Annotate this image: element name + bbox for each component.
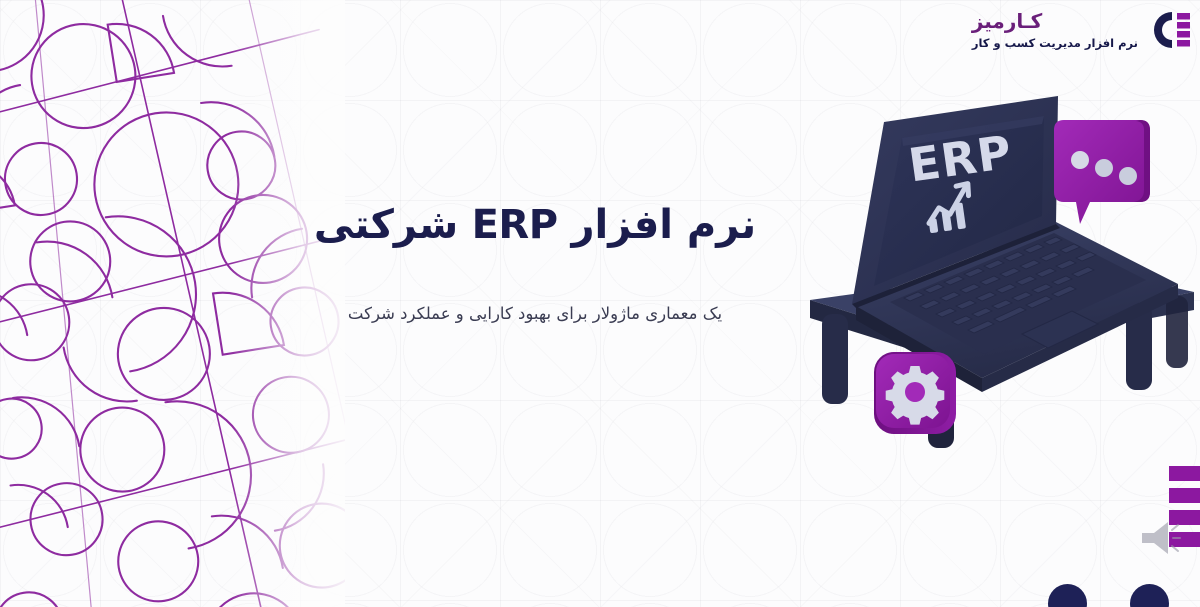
logo-text-block: کـارمیز نرم افزار مدیریت کسب و کار (972, 10, 1138, 50)
screen-erp-text: ERP (905, 125, 1015, 193)
hero-text-block: نرم افزار ERP شرکتی یک معماری ماژولار بر… (300, 200, 770, 327)
laptop-base (856, 222, 1178, 392)
svg-text:ERP: ERP (905, 125, 1015, 193)
chat-bubble-three-dots-icon (1054, 120, 1150, 224)
erp-laptop-illustration: ERP (806, 96, 1198, 466)
gear-settings-icon (874, 352, 956, 434)
navy-dot (1130, 584, 1169, 607)
karmiz-c-bars-logo-icon (1146, 8, 1192, 52)
table (810, 264, 1194, 448)
left-decorative-pattern (0, 0, 345, 607)
edge-bar (1169, 488, 1200, 503)
page-title: نرم افزار ERP شرکتی (300, 200, 770, 250)
brand-tagline: نرم افزار مدیریت کسب و کار (972, 37, 1138, 51)
brand-name: کـارمیز (972, 10, 1042, 34)
growth-arrow-bar-chart-icon (924, 184, 974, 234)
speaker-icon-svg (1140, 519, 1182, 557)
page-subtitle: یک معماری ماژولار برای بهبود کارایی و عم… (300, 302, 770, 327)
pattern-svg (0, 0, 345, 607)
hero-banner: کـارمیز نرم افزار مدیریت کسب و کار نرم ا… (0, 0, 1200, 607)
edge-bar (1169, 466, 1200, 481)
navy-dots-row (1048, 584, 1200, 607)
navy-dot (1048, 584, 1087, 607)
logo-mark-svg (1146, 8, 1192, 52)
brand-logo[interactable]: کـارمیز نرم افزار مدیریت کسب و کار (972, 8, 1192, 52)
speaker-sound-icon[interactable] (1140, 519, 1182, 557)
illustration-svg: ERP (806, 96, 1198, 466)
laptop-screen: ERP (852, 96, 1060, 308)
